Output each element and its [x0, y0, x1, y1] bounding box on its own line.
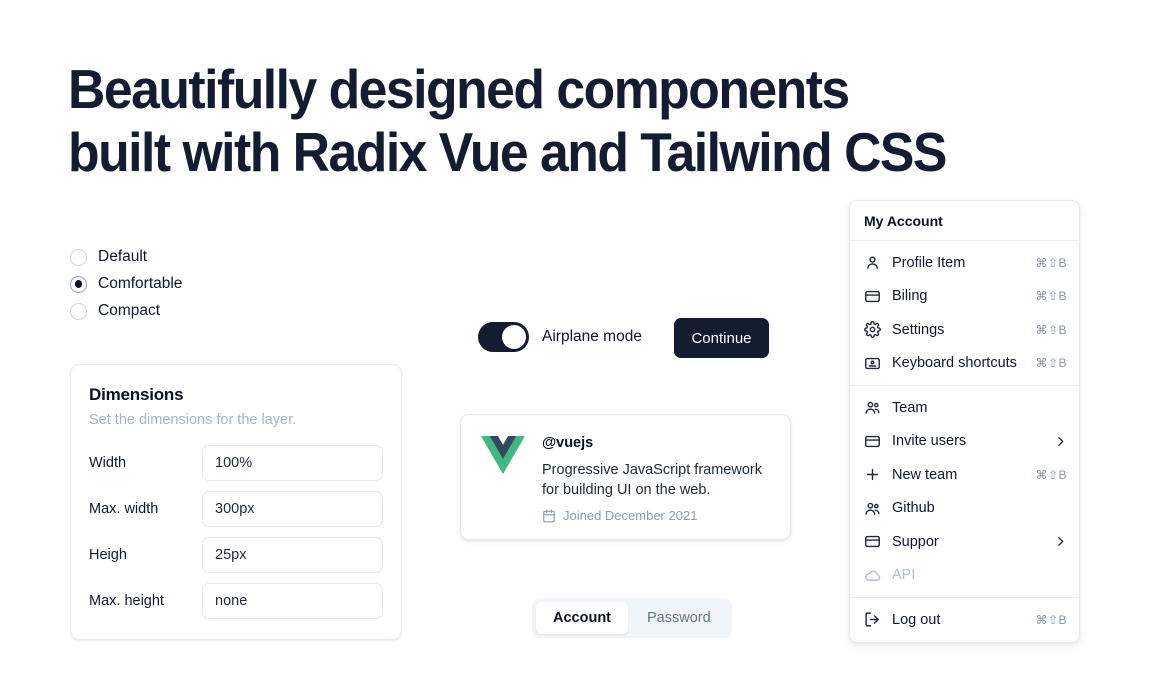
menu-header-label: My Account: [850, 201, 1079, 240]
menu-item-biling[interactable]: Biling⌘⇧B: [850, 280, 1079, 314]
users-icon: [864, 399, 881, 416]
dimension-field-label: Max. width: [89, 501, 202, 517]
menu-item-suppor[interactable]: Suppor: [850, 525, 1079, 559]
airplane-mode-label: Airplane mode: [542, 328, 642, 346]
logout-icon: [864, 611, 881, 628]
menu-item-settings[interactable]: Settings⌘⇧B: [850, 313, 1079, 347]
page-title: Beautifully designed components built wi…: [68, 58, 970, 184]
menu-item-log-out[interactable]: Log out⌘⇧B: [850, 603, 1079, 637]
menu-item-shortcut: ⌘⇧B: [1035, 289, 1067, 303]
page-title-line-1: Beautifully designed components: [68, 58, 970, 121]
chevron-right-icon: [1054, 535, 1067, 548]
tabs-list: AccountPassword: [532, 598, 732, 638]
menu-group: TeamInvite usersNew team⌘⇧BGithubSupporA…: [850, 386, 1079, 597]
menu-item-github[interactable]: Github: [850, 492, 1079, 526]
hero-section: Beautifully designed components built wi…: [68, 58, 1028, 184]
page-root: Beautifully designed components built wi…: [0, 0, 1152, 700]
user-icon: [864, 254, 881, 271]
cloud-icon: [864, 567, 881, 584]
dimension-field-row: Width: [89, 445, 383, 481]
menu-item-team[interactable]: Team: [850, 391, 1079, 425]
account-dropdown-menu: My Account Profile Item⌘⇧BBiling⌘⇧BSetti…: [849, 200, 1080, 643]
radio-group: DefaultComfortableCompact: [70, 248, 182, 320]
tab-account[interactable]: Account: [536, 602, 628, 634]
dimension-field-row: Max. width: [89, 491, 383, 527]
menu-item-api: API: [850, 559, 1079, 593]
menu-group: Log out⌘⇧B: [850, 598, 1079, 642]
menu-item-label: Invite users: [892, 433, 1043, 449]
menu-item-label: Keyboard shortcuts: [892, 355, 1024, 371]
calendar-icon: [542, 509, 556, 523]
menu-item-new-team[interactable]: New team⌘⇧B: [850, 458, 1079, 492]
menu-item-profile-item[interactable]: Profile Item⌘⇧B: [850, 246, 1079, 280]
menu-item-shortcut: ⌘⇧B: [1035, 613, 1067, 627]
continue-button[interactable]: Continue: [674, 318, 769, 358]
radio-option-comfortable[interactable]: Comfortable: [70, 275, 182, 293]
dimension-field-input[interactable]: [202, 491, 383, 527]
menu-item-label: Log out: [892, 612, 1024, 628]
menu-groups: Profile Item⌘⇧BBiling⌘⇧BSettings⌘⇧BKeybo…: [850, 241, 1079, 642]
dimensions-card-subtitle: Set the dimensions for the layer.: [89, 412, 383, 428]
menu-item-shortcut: ⌘⇧B: [1035, 468, 1067, 482]
dimensions-field-list: WidthMax. widthHeighMax. height: [89, 445, 383, 619]
menu-item-label: Biling: [892, 288, 1024, 304]
radio-option-compact[interactable]: Compact: [70, 302, 182, 320]
airplane-mode-switch[interactable]: [478, 322, 529, 352]
dimensions-card-title: Dimensions: [89, 385, 383, 405]
menu-item-shortcut: ⌘⇧B: [1035, 323, 1067, 337]
credit-card-icon: [864, 288, 881, 305]
menu-item-keyboard-shortcuts[interactable]: Keyboard shortcuts⌘⇧B: [850, 347, 1079, 381]
radio-option-default[interactable]: Default: [70, 248, 182, 266]
radio-label: Comfortable: [98, 275, 182, 293]
dimensions-card: Dimensions Set the dimensions for the la…: [70, 364, 402, 640]
credit-card-icon: [864, 433, 881, 450]
gear-icon: [864, 321, 881, 338]
menu-group: Profile Item⌘⇧BBiling⌘⇧BSettings⌘⇧BKeybo…: [850, 241, 1079, 385]
vue-description: Progressive JavaScript framework for bui…: [542, 460, 772, 500]
menu-item-shortcut: ⌘⇧B: [1035, 256, 1067, 270]
menu-item-label: API: [892, 567, 1067, 583]
radio-label: Default: [98, 248, 147, 266]
menu-item-invite-users[interactable]: Invite users: [850, 425, 1079, 459]
dimension-field-label: Max. height: [89, 593, 202, 609]
vue-logo-icon: [481, 435, 525, 475]
dimension-field-input[interactable]: [202, 537, 383, 573]
menu-item-label: Profile Item: [892, 255, 1024, 271]
radio-indicator[interactable]: [70, 276, 87, 293]
radio-indicator[interactable]: [70, 249, 87, 266]
plus-icon: [864, 466, 881, 483]
menu-item-label: New team: [892, 467, 1024, 483]
dimension-field-label: Heigh: [89, 547, 202, 563]
switch-knob: [502, 325, 526, 349]
menu-item-label: Settings: [892, 322, 1024, 338]
menu-item-label: Suppor: [892, 534, 1043, 550]
radio-indicator[interactable]: [70, 303, 87, 320]
page-title-line-2: built with Radix Vue and Tailwind CSS: [68, 121, 970, 184]
menu-item-label: Team: [892, 400, 1067, 416]
vue-hover-card: @vuejs Progressive JavaScript framework …: [460, 414, 791, 540]
vue-hover-card-body: @vuejs Progressive JavaScript framework …: [542, 433, 772, 539]
airplane-mode-row: Airplane mode: [478, 322, 642, 352]
tab-password[interactable]: Password: [630, 602, 728, 634]
keyboard-icon: [864, 355, 881, 372]
vue-joined-row: Joined December 2021: [542, 508, 772, 523]
chevron-right-icon: [1054, 435, 1067, 448]
menu-item-shortcut: ⌘⇧B: [1035, 356, 1067, 370]
radio-label: Compact: [98, 302, 160, 320]
credit-card-icon: [864, 533, 881, 550]
dimension-field-input[interactable]: [202, 445, 383, 481]
dimension-field-label: Width: [89, 455, 202, 471]
dimension-field-row: Max. height: [89, 583, 383, 619]
dimension-field-row: Heigh: [89, 537, 383, 573]
dimension-field-input[interactable]: [202, 583, 383, 619]
users-icon: [864, 500, 881, 517]
vue-handle: @vuejs: [542, 435, 772, 451]
vue-joined-text: Joined December 2021: [563, 508, 697, 523]
menu-item-label: Github: [892, 500, 1067, 516]
